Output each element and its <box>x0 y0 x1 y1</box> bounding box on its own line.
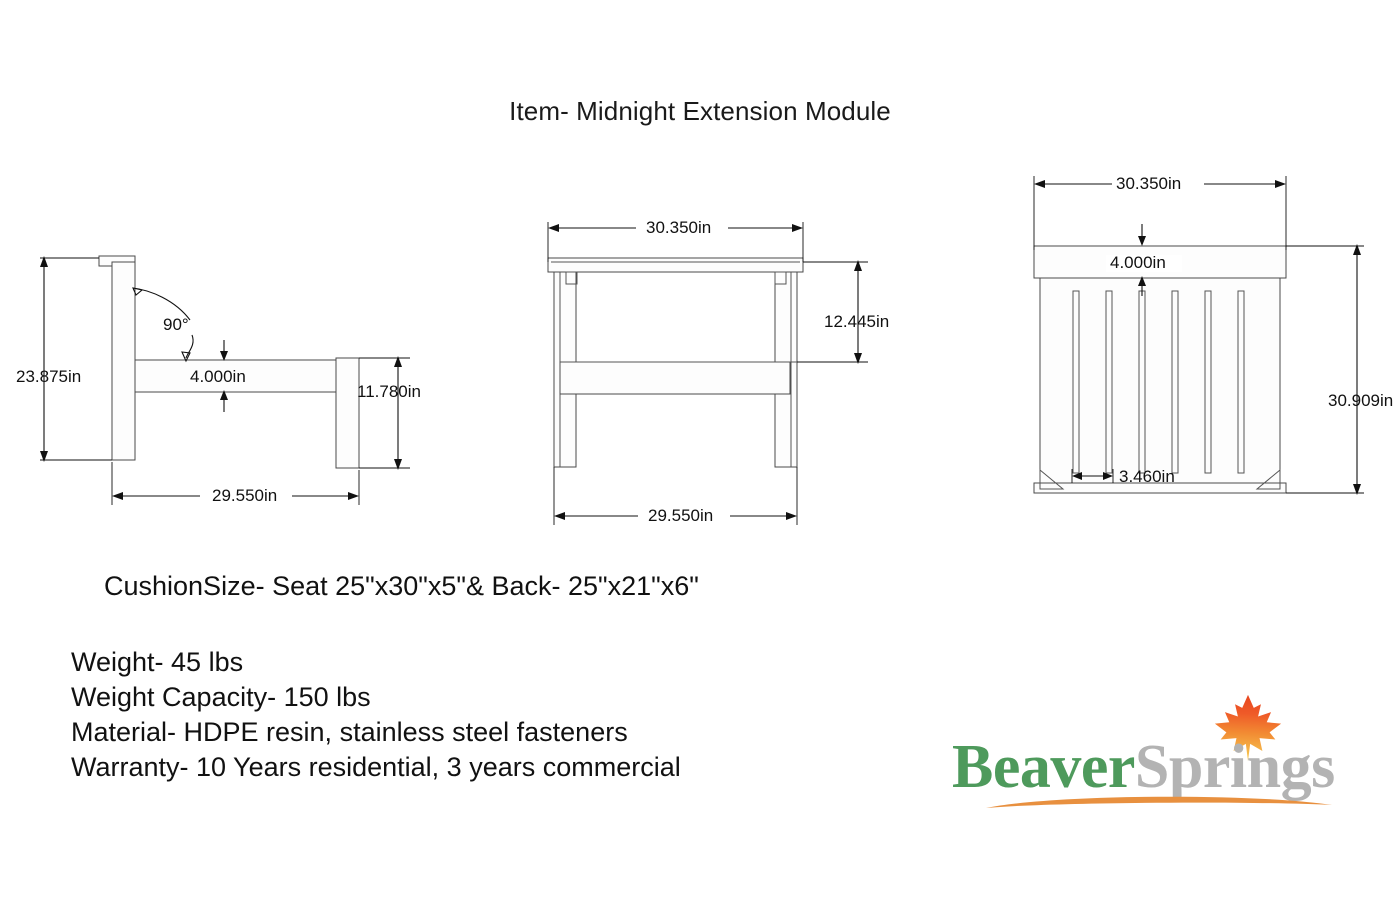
spec-warranty: Warranty- 10 Years residential, 3 years … <box>71 750 681 785</box>
view-side-elevation: 90° 4.000in 23.875in 11.780in <box>16 256 421 505</box>
dim-top-width-front: 30.350in <box>646 218 711 237</box>
dim-overall-depth-top: 30.909in <box>1328 391 1393 410</box>
dim-depth-overall: 29.550in <box>212 486 277 505</box>
spec-weight-capacity: Weight Capacity- 150 lbs <box>71 680 681 715</box>
dim-band-depth-top: 4.000in <box>1110 253 1166 272</box>
cushion-size-text: CushionSize- Seat 25"x30"x5"& Back- 25"x… <box>104 571 699 602</box>
view-front-elevation: 30.350in 12.445in 29.550in <box>548 218 889 525</box>
spec-weight: Weight- 45 lbs <box>71 645 681 680</box>
dim-slat-spacing-top: 3.460in <box>1119 467 1175 486</box>
dim-seat-height-front: 12.445in <box>824 312 889 331</box>
spec-material: Material- HDPE resin, stainless steel fa… <box>71 715 681 750</box>
dim-leg-span-front: 29.550in <box>648 506 713 525</box>
dim-overall-height: 23.875in <box>16 367 81 386</box>
drawing-sheet: Item- Midnight Extension Module 90° <box>0 0 1400 906</box>
dim-angle-back-seat: 90° <box>163 315 189 334</box>
dim-seat-height-side: 11.780in <box>357 382 421 401</box>
spec-list: Weight- 45 lbs Weight Capacity- 150 lbs … <box>71 645 681 785</box>
swoosh-icon <box>984 790 1334 812</box>
brand-logo: BeaverSprings <box>952 690 1352 830</box>
dim-overall-width-top: 30.350in <box>1116 174 1181 193</box>
dim-seat-thickness: 4.000in <box>190 367 246 386</box>
view-top-plan: 30.350in 4.000in 3.460in 30.909in <box>1034 174 1393 495</box>
